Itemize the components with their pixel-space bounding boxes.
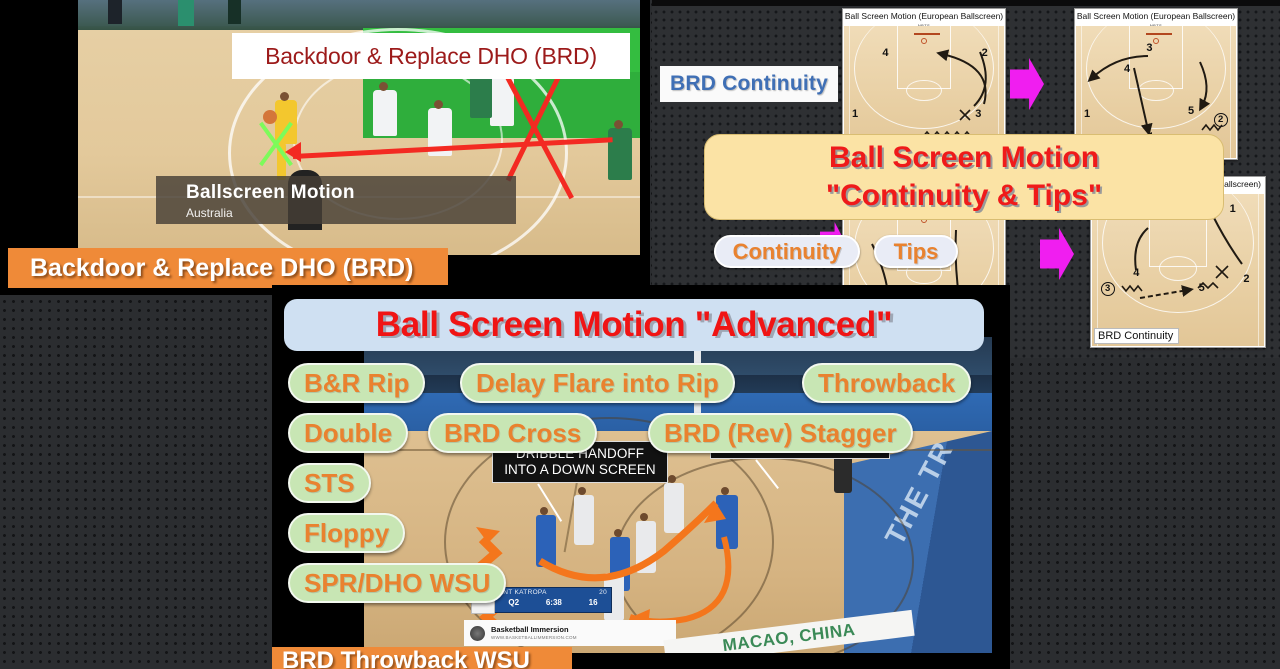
bottom-orange-banner: Backdoor & Replace DHO (BRD) bbox=[8, 248, 448, 288]
advanced-title-box: Ball Screen Motion "Advanced" bbox=[284, 299, 984, 351]
broadcast-lower-third: Ballscreen Motion Australia bbox=[156, 176, 516, 224]
right-arrow-icon bbox=[1010, 58, 1044, 110]
section-title-box: Ball Screen Motion "Continuity & Tips" bbox=[704, 134, 1224, 220]
red-arrow-head bbox=[285, 142, 301, 162]
brd-continuity-label: BRD Continuity bbox=[660, 66, 838, 102]
player-head bbox=[434, 100, 443, 109]
tag-delay-flare-into-rip[interactable]: Delay Flare into Rip bbox=[460, 363, 735, 403]
tag-throwback[interactable]: Throwback bbox=[802, 363, 971, 403]
tag-double[interactable]: Double bbox=[288, 413, 408, 453]
pill-continuity[interactable]: Continuity bbox=[714, 235, 860, 268]
top-left-video-panel: rio 2016 Ball bbox=[0, 0, 650, 295]
watermark-url: WWW.BASKETBALLIMMERSION.COM bbox=[491, 635, 577, 640]
section-title-line1: Ball Screen Motion bbox=[829, 139, 1099, 177]
watermark: Basketball Immersion WWW.BASKETBALLIMMER… bbox=[464, 620, 676, 646]
overlay-title-box: Backdoor & Replace DHO (BRD) bbox=[232, 33, 630, 79]
spectator bbox=[178, 0, 194, 26]
tag-brd-rev-stagger[interactable]: BRD (Rev) Stagger bbox=[648, 413, 913, 453]
spectator bbox=[228, 0, 241, 24]
scoreboard-clock-row: Q2 6:38 16 bbox=[495, 597, 611, 607]
watermark-title: Basketball Immersion bbox=[491, 626, 577, 634]
tag-brd-cross[interactable]: BRD Cross bbox=[428, 413, 597, 453]
scoreboard-team-row: TNT KATROPA 20 bbox=[495, 588, 611, 597]
caption-title: Ballscreen Motion bbox=[186, 182, 516, 204]
scoreboard: TNT KATROPA 20 Q2 6:38 16 bbox=[494, 587, 612, 613]
game-clock: 6:38 bbox=[546, 598, 562, 607]
player-australia bbox=[608, 128, 632, 180]
tag-floppy[interactable]: Floppy bbox=[288, 513, 405, 553]
bottom-advanced-panel: THE TR bbox=[272, 285, 1010, 669]
period: Q2 bbox=[508, 598, 519, 607]
team-name: TNT KATROPA bbox=[499, 589, 547, 596]
player-head bbox=[379, 82, 388, 91]
away-score: 16 bbox=[589, 598, 598, 607]
tag-sts[interactable]: STS bbox=[288, 463, 371, 503]
callout-line2: INTO A DOWN SCREEN bbox=[500, 462, 660, 478]
crowd-strip bbox=[78, 0, 640, 26]
player-head bbox=[280, 92, 289, 101]
player-head bbox=[614, 120, 623, 129]
section-title-line2: "Continuity & Tips" bbox=[826, 177, 1102, 215]
right-arrow-icon bbox=[1040, 228, 1074, 280]
team-score: 20 bbox=[599, 589, 607, 596]
basketball bbox=[263, 110, 277, 124]
watermark-logo-icon bbox=[470, 626, 485, 641]
diagram-footer-label: BRD Continuity bbox=[1094, 328, 1179, 344]
player-opponent bbox=[373, 90, 397, 136]
caption-subtitle: Australia bbox=[186, 206, 516, 220]
tag-br-rip[interactable]: B&R Rip bbox=[288, 363, 425, 403]
tag-spr-dho-wsu[interactable]: SPR/DHO WSU bbox=[288, 563, 506, 603]
bottom-orange-banner: BRD Throwback WSU bbox=[272, 647, 572, 669]
pill-tips[interactable]: Tips bbox=[874, 235, 958, 268]
spectator bbox=[108, 0, 122, 24]
